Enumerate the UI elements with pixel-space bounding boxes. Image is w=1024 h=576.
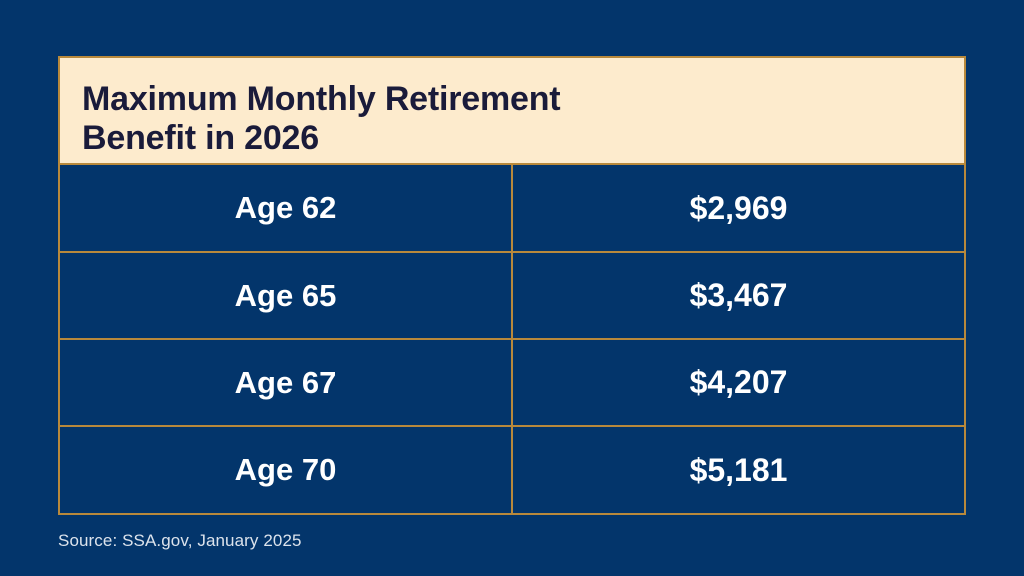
cell-amount: $3,467 (512, 252, 964, 339)
cell-amount: $2,969 (512, 165, 964, 252)
cell-amount: $4,207 (512, 339, 964, 426)
page-title: Maximum Monthly Retirement Benefit in 20… (82, 80, 964, 159)
table-row: Age 67 $4,207 (60, 339, 964, 426)
table-row: Age 65 $3,467 (60, 252, 964, 339)
cell-age: Age 62 (60, 165, 512, 252)
cell-age: Age 65 (60, 252, 512, 339)
cell-age: Age 70 (60, 426, 512, 513)
table-header-band: Maximum Monthly Retirement Benefit in 20… (60, 58, 964, 165)
table-body: Age 62 $2,969 Age 65 $3,467 Age 67 $4,20… (60, 165, 964, 513)
cell-amount: $5,181 (512, 426, 964, 513)
benefit-table: Maximum Monthly Retirement Benefit in 20… (58, 56, 966, 515)
table-row: Age 70 $5,181 (60, 426, 964, 513)
cell-age: Age 67 (60, 339, 512, 426)
slide-canvas: Maximum Monthly Retirement Benefit in 20… (0, 0, 1024, 576)
table-row: Age 62 $2,969 (60, 165, 964, 252)
source-note: Source: SSA.gov, January 2025 (58, 531, 302, 551)
